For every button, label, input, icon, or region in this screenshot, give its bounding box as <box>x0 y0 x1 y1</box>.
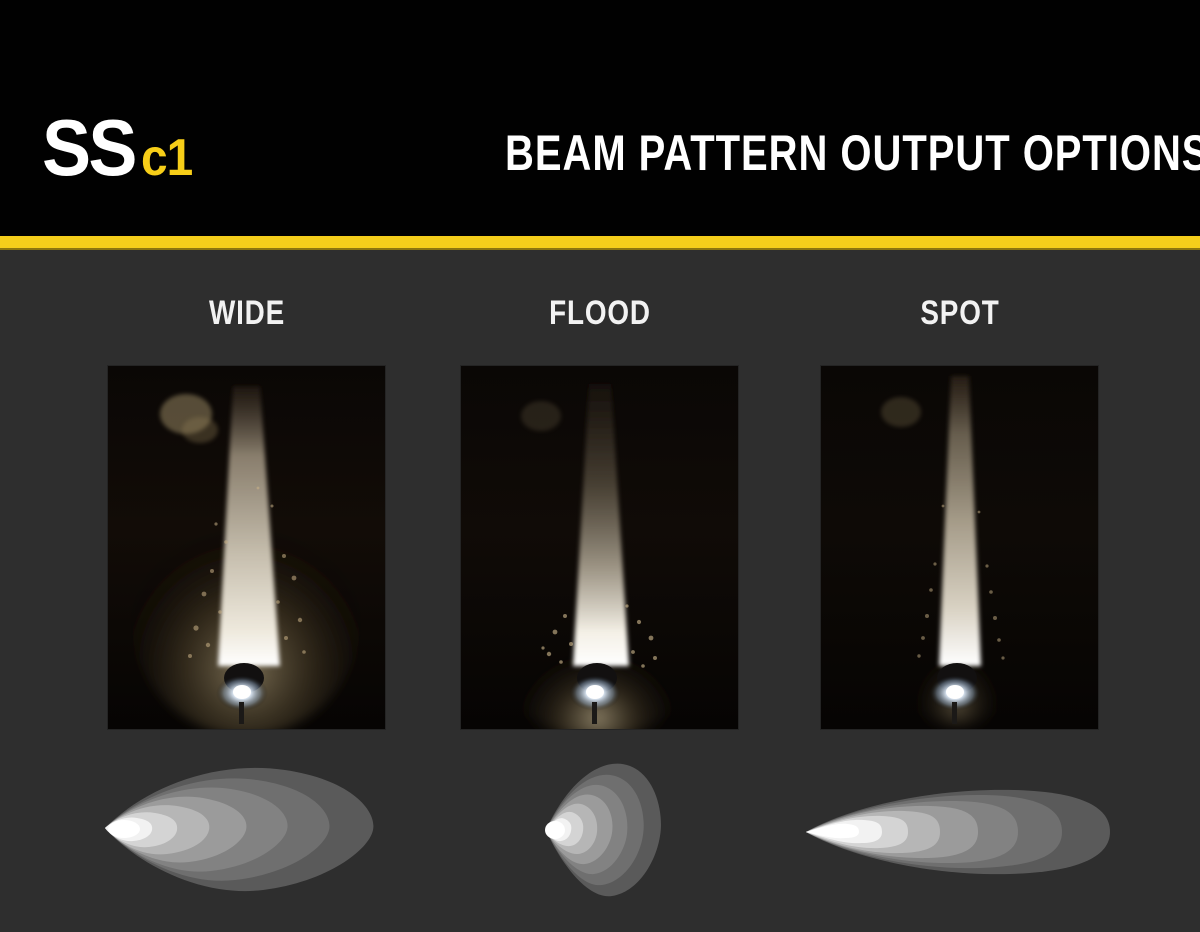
logo-primary-text: SS <box>42 108 135 188</box>
beam-diagram-wide <box>77 750 417 900</box>
beam-column-flood: FLOOD <box>430 250 770 333</box>
content-area: WIDE <box>0 250 1200 932</box>
accent-divider <box>0 236 1200 250</box>
beam-label-flood: FLOOD <box>461 294 740 333</box>
beam-column-wide: WIDE <box>77 250 417 333</box>
logo-secondary-text: c1 <box>141 132 192 184</box>
beam-diagram-spot <box>790 750 1130 900</box>
beam-column-spot: SPOT <box>790 250 1130 333</box>
beam-label-spot: SPOT <box>821 294 1100 333</box>
page-title: BEAM PATTERN OUTPUT OPTIONS <box>505 124 1105 182</box>
brand-logo: SS c1 <box>42 108 197 180</box>
beam-diagram-flood <box>430 750 770 900</box>
beam-label-wide: WIDE <box>108 294 387 333</box>
beam-photo-flood <box>461 366 738 729</box>
page-header: SS c1 BEAM PATTERN OUTPUT OPTIONS <box>0 0 1200 236</box>
beam-photo-spot <box>821 366 1098 729</box>
beam-photo-wide <box>108 366 385 729</box>
